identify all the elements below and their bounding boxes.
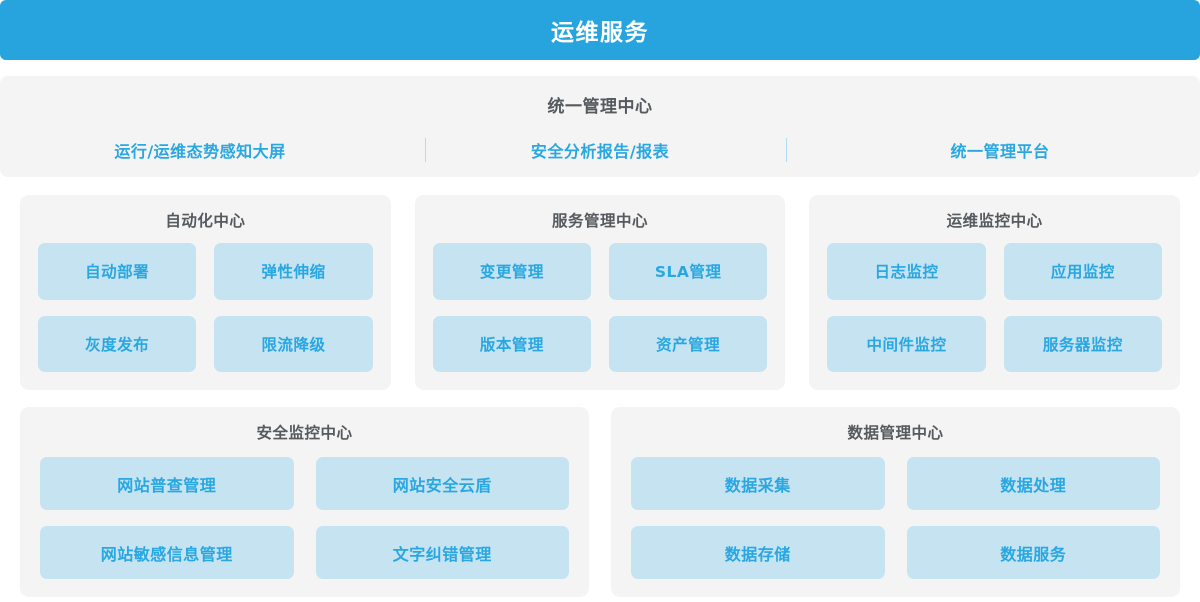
card-items-data-management-center: 数据采集 数据处理 数据存储 数据服务: [631, 457, 1160, 579]
chip-data-storage[interactable]: 数据存储: [631, 526, 885, 579]
card-title-security-monitoring-center: 安全监控中心: [40, 421, 569, 443]
card-title-data-management-center: 数据管理中心: [631, 421, 1160, 443]
card-title-ops-monitoring-center: 运维监控中心: [827, 209, 1162, 231]
unified-management-center-links: 运行/运维态势感知大屏 安全分析报告/报表 统一管理平台: [0, 135, 1200, 165]
umc-link-unified-management-platform[interactable]: 统一管理平台: [800, 138, 1200, 162]
unified-management-center-title: 统一管理中心: [0, 92, 1200, 117]
chip-log-monitoring[interactable]: 日志监控: [827, 243, 985, 300]
card-items-ops-monitoring-center: 日志监控 应用监控 中间件监控 服务器监控: [827, 243, 1162, 372]
divider-1: [425, 138, 426, 162]
card-automation-center: 自动化中心 自动部署 弹性伸缩 灰度发布 限流降级: [20, 195, 391, 390]
chip-data-service[interactable]: 数据服务: [907, 526, 1161, 579]
card-ops-monitoring-center: 运维监控中心 日志监控 应用监控 中间件监控 服务器监控: [809, 195, 1180, 390]
card-items-automation-center: 自动部署 弹性伸缩 灰度发布 限流降级: [38, 243, 373, 372]
chip-middleware-monitoring[interactable]: 中间件监控: [827, 316, 985, 373]
chip-website-sensitive-info-management[interactable]: 网站敏感信息管理: [40, 526, 294, 579]
chip-version-management[interactable]: 版本管理: [433, 316, 591, 373]
umc-link-situational-awareness-screen[interactable]: 运行/运维态势感知大屏: [0, 138, 400, 162]
architecture-diagram: 运维服务 统一管理中心 运行/运维态势感知大屏 安全分析报告/报表 统一管理平台…: [0, 0, 1200, 602]
chip-text-correction-management[interactable]: 文字纠错管理: [316, 526, 570, 579]
chip-change-management[interactable]: 变更管理: [433, 243, 591, 300]
chip-asset-management[interactable]: 资产管理: [609, 316, 767, 373]
chip-gray-release[interactable]: 灰度发布: [38, 316, 196, 373]
chip-rate-limit-degrade[interactable]: 限流降级: [214, 316, 372, 373]
chip-website-security-cloud-shield[interactable]: 网站安全云盾: [316, 457, 570, 510]
chip-elastic-scaling[interactable]: 弹性伸缩: [214, 243, 372, 300]
unified-management-center-panel: 统一管理中心 运行/运维态势感知大屏 安全分析报告/报表 统一管理平台: [0, 76, 1200, 177]
chip-server-monitoring[interactable]: 服务器监控: [1004, 316, 1162, 373]
umc-link-security-analysis-report[interactable]: 安全分析报告/报表: [400, 138, 800, 162]
chip-data-collection[interactable]: 数据采集: [631, 457, 885, 510]
page-title: 运维服务: [551, 13, 649, 47]
card-title-automation-center: 自动化中心: [38, 209, 373, 231]
card-security-monitoring-center: 安全监控中心 网站普查管理 网站安全云盾 网站敏感信息管理 文字纠错管理: [20, 407, 589, 597]
card-service-management-center: 服务管理中心 变更管理 SLA管理 版本管理 资产管理: [415, 195, 786, 390]
card-data-management-center: 数据管理中心 数据采集 数据处理 数据存储 数据服务: [611, 407, 1180, 597]
chip-data-processing[interactable]: 数据处理: [907, 457, 1161, 510]
card-title-service-management-center: 服务管理中心: [433, 209, 768, 231]
divider-2: [786, 138, 787, 162]
chip-sla-management[interactable]: SLA管理: [609, 243, 767, 300]
chip-website-census-management[interactable]: 网站普查管理: [40, 457, 294, 510]
page-banner: 运维服务: [0, 0, 1200, 60]
bottom-card-row: 安全监控中心 网站普查管理 网站安全云盾 网站敏感信息管理 文字纠错管理 数据管…: [20, 407, 1180, 597]
card-items-service-management-center: 变更管理 SLA管理 版本管理 资产管理: [433, 243, 768, 372]
card-items-security-monitoring-center: 网站普查管理 网站安全云盾 网站敏感信息管理 文字纠错管理: [40, 457, 569, 579]
middle-card-row: 自动化中心 自动部署 弹性伸缩 灰度发布 限流降级 服务管理中心 变更管理 SL…: [20, 195, 1180, 390]
chip-auto-deploy[interactable]: 自动部署: [38, 243, 196, 300]
chip-application-monitoring[interactable]: 应用监控: [1004, 243, 1162, 300]
